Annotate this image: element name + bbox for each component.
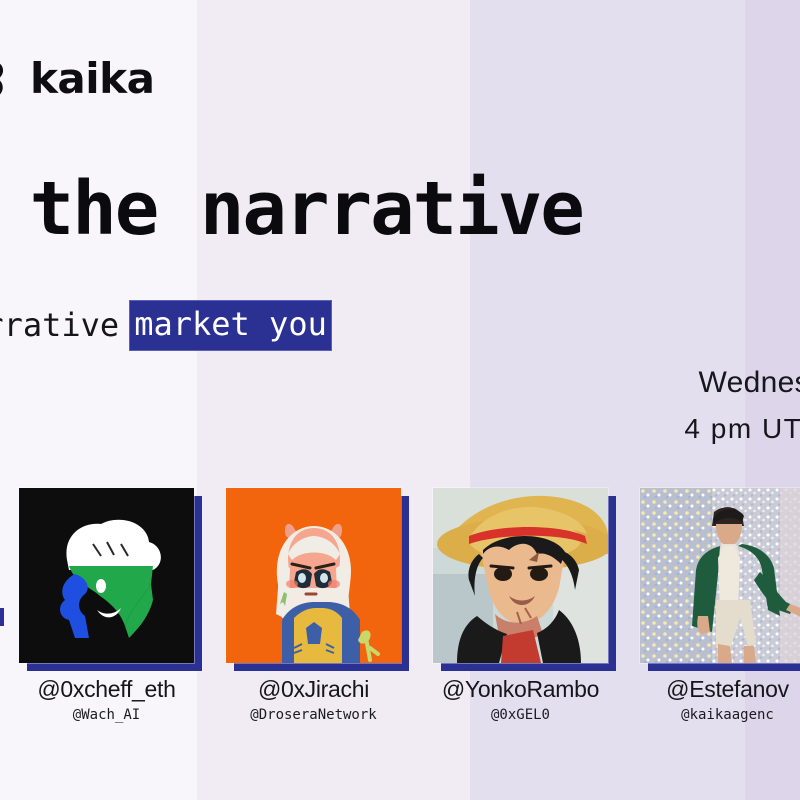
speaker-card[interactable]: @YonkoRambo @0xGEL0 bbox=[433, 488, 608, 723]
avatar-wrap bbox=[19, 488, 194, 663]
subtitle: he narrative market you bbox=[0, 300, 332, 351]
schedule-day: Wednes bbox=[684, 360, 800, 407]
promo-canvas: kaika et the narrative he narrative mark… bbox=[0, 0, 800, 800]
schedule-block: Wednes 4 pm UTC bbox=[684, 360, 800, 451]
avatar-wrap bbox=[640, 488, 800, 663]
speaker-handle[interactable]: @0xJirachi bbox=[226, 676, 401, 703]
person-photo-avatar bbox=[640, 488, 800, 663]
speaker-subhandle[interactable]: @Wach_AI bbox=[19, 707, 194, 723]
brand-logo: kaika bbox=[0, 58, 154, 100]
page-title: et the narrative bbox=[0, 172, 583, 246]
speaker-card[interactable]: @Estefanov @kaikaagenc bbox=[640, 488, 800, 723]
speaker-handle[interactable]: @YonkoRambo bbox=[433, 676, 608, 703]
speaker-subhandle[interactable]: @kaikaagenc bbox=[640, 707, 800, 723]
subtitle-highlight: market you bbox=[129, 300, 332, 351]
speaker-subhandle[interactable]: @0xGEL0 bbox=[433, 707, 608, 723]
speaker-handle[interactable]: @Estefanov bbox=[640, 676, 800, 703]
speaker-card[interactable]: @0xJirachi @DroseraNetwork bbox=[226, 488, 401, 723]
subtitle-prefix: he narrative bbox=[0, 304, 119, 347]
speaker-subhandle[interactable]: @DroseraNetwork bbox=[226, 707, 401, 723]
kaika-mark-icon bbox=[0, 58, 20, 100]
avatar-wrap bbox=[226, 488, 401, 663]
speaker-handle[interactable]: @0xcheff_eth bbox=[19, 676, 194, 703]
strawhat-anime-avatar bbox=[433, 488, 608, 663]
brand-name: kaika bbox=[30, 58, 154, 100]
anime-horned-avatar bbox=[226, 488, 401, 663]
speaker-card[interactable]: @0xcheff_eth @Wach_AI bbox=[19, 488, 194, 723]
chef-avatar bbox=[19, 488, 194, 663]
avatar-wrap bbox=[433, 488, 608, 663]
speaker-list: @0xcheff_eth @Wach_AI bbox=[0, 488, 800, 723]
schedule-time: 4 pm UTC bbox=[684, 407, 800, 452]
